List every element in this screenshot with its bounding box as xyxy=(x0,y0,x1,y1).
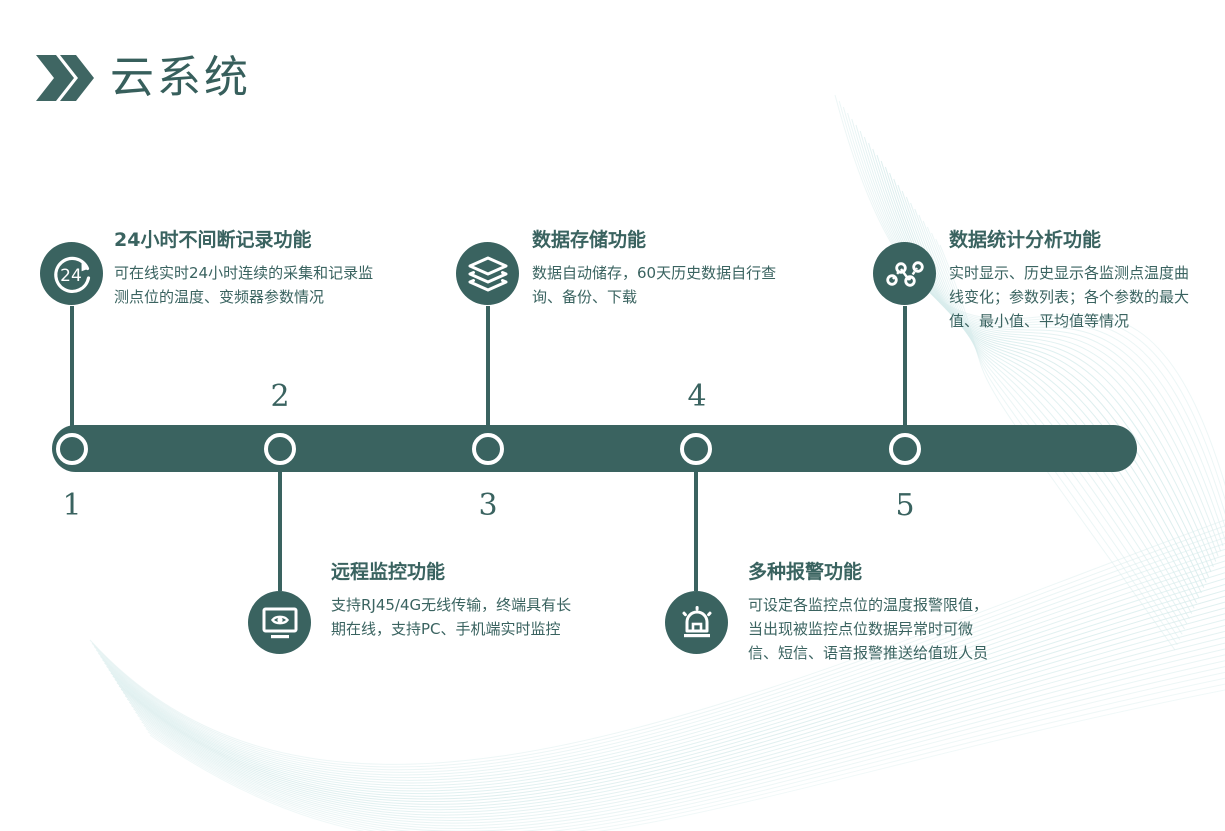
feature-text-5: 数据统计分析功能 实时显示、历史显示各监测点温度曲线变化；参数列表；各个参数的最… xyxy=(949,228,1197,333)
connector-stem-2 xyxy=(278,468,282,591)
feature-body-2: 支持RJ45/4G无线传输，终端具有长期在线，支持PC、手机端实时监控 xyxy=(331,593,581,641)
feature-text-2: 远程监控功能 支持RJ45/4G无线传输，终端具有长期在线，支持PC、手机端实时… xyxy=(331,560,581,641)
feature-body-5: 实时显示、历史显示各监测点温度曲线变化；参数列表；各个参数的最大值、最小值、平均… xyxy=(949,261,1197,333)
feature-body-4: 可设定各监控点位的温度报警限值，当出现被监控点位数据异常时可微信、短信、语音报警… xyxy=(748,593,996,665)
feature-title-1: 24小时不间断记录功能 xyxy=(114,228,384,252)
double-chevron-right-icon xyxy=(34,52,96,104)
feature-text-3: 数据存储功能 数据自动储存，60天历史数据自行查询、备份、下载 xyxy=(532,228,782,309)
feature-title-2: 远程监控功能 xyxy=(331,560,581,584)
layers-stack-icon xyxy=(456,242,519,305)
feature-title-4: 多种报警功能 xyxy=(748,560,996,584)
timeline-node-1[interactable] xyxy=(56,433,88,465)
timeline-number-1: 1 xyxy=(52,488,92,523)
feature-title-5: 数据统计分析功能 xyxy=(949,228,1197,252)
timeline-number-4: 4 xyxy=(677,379,717,414)
timeline-bar xyxy=(52,425,1137,472)
feature-text-1: 24小时不间断记录功能 可在线实时24小时连续的采集和记录监测点位的温度、变频器… xyxy=(114,228,384,309)
connector-stem-4 xyxy=(694,468,698,591)
timeline-number-5: 5 xyxy=(885,488,925,523)
timeline-number-2: 2 xyxy=(260,379,300,414)
svg-text:24: 24 xyxy=(60,266,82,286)
clock-24h-icon: 24 xyxy=(40,242,103,305)
timeline-node-4[interactable] xyxy=(680,433,712,465)
line-chart-nodes-icon xyxy=(873,242,936,305)
feature-text-4: 多种报警功能 可设定各监控点位的温度报警限值，当出现被监控点位数据异常时可微信、… xyxy=(748,560,996,665)
page-title: 云系统 xyxy=(110,52,251,104)
monitor-eye-icon xyxy=(248,591,311,654)
feature-body-3: 数据自动储存，60天历史数据自行查询、备份、下载 xyxy=(532,261,782,309)
connector-stem-5 xyxy=(903,306,907,428)
feature-title-3: 数据存储功能 xyxy=(532,228,782,252)
page-header: 云系统 xyxy=(34,52,251,104)
timeline-number-3: 3 xyxy=(468,488,508,523)
feature-body-1: 可在线实时24小时连续的采集和记录监测点位的温度、变频器参数情况 xyxy=(114,261,384,309)
timeline-node-5[interactable] xyxy=(889,433,921,465)
timeline-node-3[interactable] xyxy=(472,433,504,465)
timeline-node-2[interactable] xyxy=(264,433,296,465)
background-wave-decoration xyxy=(0,0,1225,831)
connector-stem-1 xyxy=(70,306,74,428)
infographic-canvas: 云系统 1 2 3 4 5 24 24小时不间断记录功能 可在线实时24小时连续… xyxy=(0,0,1225,831)
alarm-siren-icon xyxy=(665,591,728,654)
connector-stem-3 xyxy=(486,306,490,428)
